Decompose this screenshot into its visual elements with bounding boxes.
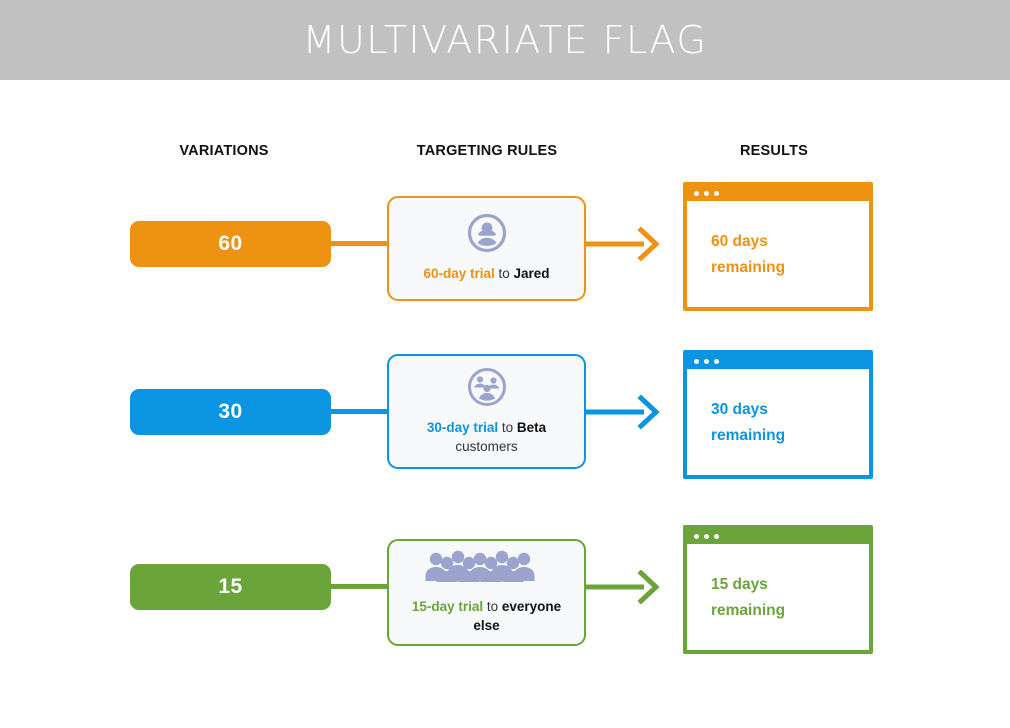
connector-line [331,584,388,589]
window-dot-icon [704,534,709,539]
window-dot-icon [714,359,719,364]
column-header-targeting-rules: TARGETING RULES [417,143,557,159]
result-window[interactable]: 30 days remaining [683,350,873,479]
column-header-variations: VARIATIONS [179,143,268,159]
people-group-circle-icon [467,367,507,412]
variation-pill[interactable]: 30 [130,389,331,435]
result-text: 15 days remaining [711,572,869,625]
connector-line [331,241,388,246]
window-body: 30 days remaining [687,369,869,450]
window-dot-icon [694,191,699,196]
window-body: 60 days remaining [687,201,869,282]
audience-suffix: customers [455,439,517,454]
window-dot-icon [704,359,709,364]
trial-label: 30-day trial [427,420,498,435]
targeting-rule-caption: 30-day trial to Beta customers [389,419,584,455]
result-window[interactable]: 60 days remaining [683,182,873,311]
window-title-bar [687,354,869,369]
variation-pill[interactable]: 60 [130,221,331,267]
targeting-rule-card[interactable]: 15-day trial to everyone else [387,539,586,646]
arrow-right-icon [586,395,660,429]
arrow-right-icon [586,570,660,604]
window-dot-icon [704,191,709,196]
variation-value: 15 [218,575,242,599]
flag-row: 30 30-day trial to Beta customers [0,331,1010,501]
window-dot-icon [714,534,719,539]
flag-row: 60 60-day trial to Jared 60 days remaini… [0,163,1010,333]
rule-connector-word: to [498,420,517,435]
trial-label: 15-day trial [412,599,483,614]
window-body: 15 days remaining [687,544,869,625]
window-title-bar [687,529,869,544]
variation-value: 30 [218,400,242,424]
variation-pill[interactable]: 15 [130,564,331,610]
window-dot-icon [714,191,719,196]
rule-connector-word: to [483,599,502,614]
connector-line [331,409,388,414]
targeting-rule-caption: 60-day trial to Jared [415,265,557,283]
column-header-results: RESULTS [740,143,808,159]
targeting-rule-card[interactable]: 30-day trial to Beta customers [387,354,586,469]
result-text: 60 days remaining [711,229,869,282]
page-header: MULTIVARIATE FLAG [0,0,1010,80]
arrow-right-icon [586,227,660,261]
trial-label: 60-day trial [423,266,494,281]
window-title-bar [687,186,869,201]
page-title: MULTIVARIATE FLAG [303,21,708,59]
result-text: 30 days remaining [711,397,869,450]
audience-label: Beta [517,420,546,435]
result-window[interactable]: 15 days remaining [683,525,873,654]
window-dot-icon [694,359,699,364]
audience-label: Jared [514,266,550,281]
window-dot-icon [694,534,699,539]
targeting-rule-caption: 15-day trial to everyone else [389,598,584,634]
rule-connector-word: to [495,266,514,281]
person-avatar-icon [467,213,507,258]
flag-row: 15 [0,506,1010,676]
targeting-rule-card[interactable]: 60-day trial to Jared [387,196,586,301]
crowd-icon [422,550,552,591]
variation-value: 60 [218,232,242,256]
